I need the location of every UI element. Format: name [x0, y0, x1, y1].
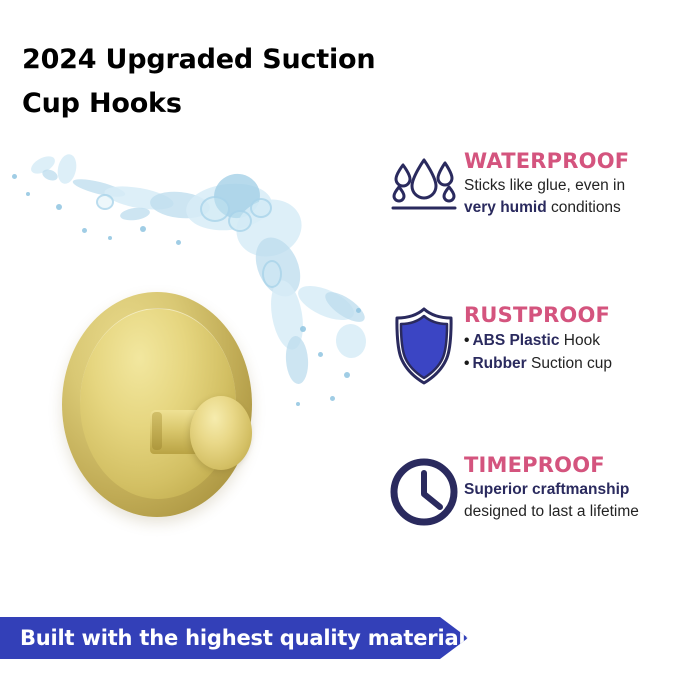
water-drops-icon — [386, 148, 462, 212]
feature-line: designed to last a lifetime — [464, 501, 684, 523]
suction-cup-hook-image — [62, 292, 262, 527]
feature-rustproof-text: RUSTPROOF •ABS Plastic Hook •Rubber Suct… — [462, 302, 684, 375]
feature-timeproof: TIMEPROOF Superior craftmanship designed… — [386, 452, 684, 528]
page-title: 2024 Upgraded Suction Cup Hooks — [22, 38, 422, 126]
feature-line: very humid conditions — [464, 197, 684, 219]
page-title-line-2: Cup Hooks — [22, 82, 422, 126]
shield-icon — [386, 302, 462, 386]
bullet-glyph: • — [464, 355, 469, 372]
feature-title: TIMEPROOF — [464, 452, 684, 478]
feature-line: Sticks like glue, even in — [464, 175, 684, 197]
quality-banner-text: Built with the highest quality materials — [0, 626, 478, 650]
bullet-text: Suction cup — [527, 355, 612, 372]
feature-title: RUSTPROOF — [464, 302, 684, 328]
bullet-emphasis: ABS Plastic — [472, 332, 559, 349]
feature-line-text: conditions — [547, 199, 621, 216]
feature-waterproof: WATERPROOF Sticks like glue, even in ver… — [386, 148, 684, 219]
bullet-glyph: • — [464, 332, 469, 349]
clock-icon — [386, 452, 462, 528]
feature-line: Superior craftmanship — [464, 479, 684, 501]
quality-banner: Built with the highest quality materials — [0, 617, 468, 659]
feature-bullet: •ABS Plastic Hook — [464, 329, 684, 352]
product-infographic: 2024 Upgraded Suction Cup Hooks — [0, 0, 684, 684]
feature-rustproof: RUSTPROOF •ABS Plastic Hook •Rubber Suct… — [386, 302, 684, 386]
feature-title: WATERPROOF — [464, 148, 684, 174]
page-title-line-1: 2024 Upgraded Suction — [22, 38, 422, 82]
feature-line-text: Sticks like glue, even in — [464, 177, 625, 194]
product-photo — [0, 140, 380, 560]
bullet-emphasis: Rubber — [472, 355, 526, 372]
feature-waterproof-text: WATERPROOF Sticks like glue, even in ver… — [462, 148, 684, 219]
bullet-text: Hook — [559, 332, 600, 349]
feature-line-emphasis: very humid — [464, 199, 547, 216]
feature-bullet: •Rubber Suction cup — [464, 352, 684, 375]
hook-knob-cap — [190, 396, 252, 470]
feature-timeproof-text: TIMEPROOF Superior craftmanship designed… — [462, 452, 684, 523]
